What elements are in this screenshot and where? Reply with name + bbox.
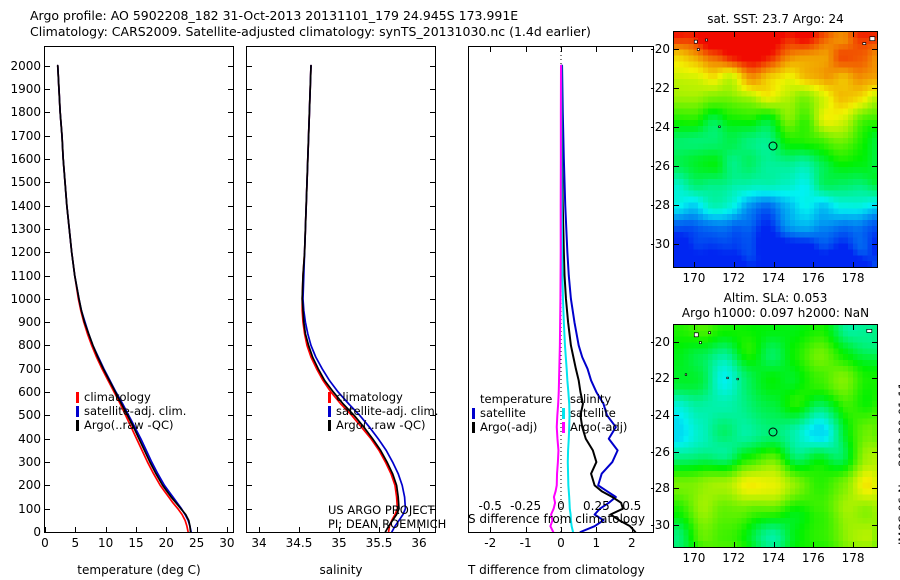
tick bbox=[247, 392, 252, 393]
tick bbox=[694, 262, 695, 267]
ytick-label: 2000 bbox=[1, 59, 41, 73]
tick bbox=[228, 136, 233, 137]
tick bbox=[228, 159, 233, 160]
tick bbox=[872, 205, 877, 206]
tick bbox=[45, 276, 50, 277]
tick bbox=[872, 342, 877, 343]
tick bbox=[136, 527, 137, 532]
legend-swatch bbox=[328, 420, 331, 431]
tick bbox=[247, 182, 252, 183]
ytick-label: 1000 bbox=[1, 292, 41, 306]
tick bbox=[75, 527, 76, 532]
tick bbox=[247, 369, 252, 370]
tick bbox=[872, 88, 877, 89]
legend-label: climatology bbox=[84, 390, 151, 404]
profile-location-marker bbox=[769, 428, 778, 437]
map-xtick-label: 174 bbox=[762, 271, 785, 285]
tick bbox=[227, 527, 228, 532]
salinity-profile-panel bbox=[246, 46, 436, 533]
tick bbox=[674, 378, 679, 379]
map-ytick-label: -20 bbox=[640, 335, 670, 349]
legend-swatch bbox=[472, 408, 475, 419]
tick bbox=[430, 206, 435, 207]
temperature-xaxis-label: temperature (deg C) bbox=[77, 563, 200, 577]
map-ytick-label: -24 bbox=[640, 120, 670, 134]
sla-map[interactable] bbox=[673, 324, 878, 548]
tick bbox=[228, 345, 233, 346]
legend-swatch bbox=[562, 422, 565, 433]
tick bbox=[247, 439, 252, 440]
sst-map-title: sat. SST: 23.7 Argo: 24 bbox=[673, 12, 878, 26]
map-xtick-label: 176 bbox=[802, 551, 825, 565]
tick bbox=[430, 89, 435, 90]
tick bbox=[526, 47, 527, 52]
tick bbox=[45, 89, 50, 90]
difference-bottom-xaxis-label: T difference from climatology bbox=[468, 563, 645, 577]
tick bbox=[247, 112, 252, 113]
temperature-legend: climatologysatellite-adj. clim.Argo(..ra… bbox=[76, 390, 186, 432]
tick bbox=[872, 488, 877, 489]
difference-top-xaxis-label: S difference from climatology bbox=[468, 512, 645, 526]
tick bbox=[45, 532, 50, 533]
ytick-label: 400 bbox=[1, 432, 41, 446]
sst-map[interactable] bbox=[673, 31, 878, 268]
xtick-label: 34.5 bbox=[286, 536, 313, 550]
legend-title: salinity bbox=[562, 392, 627, 406]
tick bbox=[166, 527, 167, 532]
tick bbox=[45, 415, 50, 416]
tick bbox=[45, 345, 50, 346]
tick bbox=[247, 345, 252, 346]
xtick-label: 35.5 bbox=[366, 536, 393, 550]
salinity-xaxis-label: salinity bbox=[319, 563, 362, 577]
tick bbox=[228, 276, 233, 277]
tick bbox=[813, 262, 814, 267]
tick bbox=[228, 509, 233, 510]
sst-map-raster bbox=[674, 32, 877, 267]
tick bbox=[430, 182, 435, 183]
tick bbox=[674, 415, 679, 416]
tick bbox=[299, 527, 300, 532]
legend-item: Argo(-adj) bbox=[472, 420, 552, 434]
legend-item: Argo(..raw -QC) bbox=[76, 418, 186, 432]
tick bbox=[45, 527, 46, 532]
tick bbox=[45, 509, 50, 510]
tick bbox=[674, 342, 679, 343]
xtick-label: 10 bbox=[98, 536, 113, 550]
xtick-label: 36 bbox=[411, 536, 426, 550]
ytick-label: 1800 bbox=[1, 105, 41, 119]
tick bbox=[774, 262, 775, 267]
tick bbox=[259, 527, 260, 532]
ytick-label: 800 bbox=[1, 338, 41, 352]
tick bbox=[430, 462, 435, 463]
sla-map-title-line2: Argo h1000: 0.097 h2000: NaN bbox=[663, 306, 888, 320]
tick bbox=[674, 166, 679, 167]
tick bbox=[45, 462, 50, 463]
tick bbox=[430, 229, 435, 230]
map-ytick-label: -24 bbox=[640, 408, 670, 422]
tick bbox=[694, 325, 695, 330]
tick bbox=[674, 49, 679, 50]
ytick-label: 1300 bbox=[1, 222, 41, 236]
tick bbox=[872, 378, 877, 379]
tick bbox=[734, 325, 735, 330]
page-title: Argo profile: AO 5902208_182 31-Oct-2013… bbox=[30, 8, 670, 40]
map-ytick-label: -26 bbox=[640, 159, 670, 173]
tick bbox=[247, 66, 252, 67]
tick bbox=[872, 166, 877, 167]
legend-item: Argo(..raw -QC) bbox=[328, 418, 438, 432]
imos-timestamp: IMOS 06-Nov-2013 20:01:11 bbox=[896, 382, 900, 545]
legend-item: satellite bbox=[472, 406, 552, 420]
tick bbox=[694, 542, 695, 547]
tick bbox=[228, 299, 233, 300]
ytick-label: 1100 bbox=[1, 269, 41, 283]
temperature-profile-plot bbox=[45, 47, 233, 532]
ytick-label: 1900 bbox=[1, 82, 41, 96]
xtick-label: 1 bbox=[593, 536, 601, 550]
ytick-label: 700 bbox=[1, 362, 41, 376]
tick bbox=[774, 325, 775, 330]
tick bbox=[774, 542, 775, 547]
tick bbox=[430, 112, 435, 113]
tick bbox=[228, 485, 233, 486]
tick bbox=[853, 542, 854, 547]
tick bbox=[872, 244, 877, 245]
difference-profile-plot bbox=[469, 47, 653, 532]
xtick-label: -1 bbox=[520, 536, 532, 550]
tick bbox=[45, 439, 50, 440]
tick bbox=[430, 439, 435, 440]
tick bbox=[45, 299, 50, 300]
legend-item: satellite-adj. clim. bbox=[328, 404, 438, 418]
tick bbox=[632, 47, 633, 52]
profile-location-marker bbox=[769, 141, 778, 150]
sla-map-title-line1: Altim. SLA: 0.053 bbox=[673, 291, 878, 305]
tick bbox=[430, 276, 435, 277]
tick bbox=[596, 527, 597, 532]
tick bbox=[430, 299, 435, 300]
map-ytick-label: -28 bbox=[640, 198, 670, 212]
legend-swatch bbox=[328, 392, 331, 403]
tick bbox=[45, 136, 50, 137]
tick bbox=[526, 527, 527, 532]
tick bbox=[45, 159, 50, 160]
map-ytick-label: -22 bbox=[640, 371, 670, 385]
tick bbox=[247, 415, 252, 416]
tick bbox=[247, 206, 252, 207]
xtick-label: 25 bbox=[189, 536, 204, 550]
legend-label: satellite-adj. clim. bbox=[336, 404, 438, 418]
tick bbox=[247, 485, 252, 486]
map-ytick-label: -26 bbox=[640, 445, 670, 459]
ytick-label: 200 bbox=[1, 478, 41, 492]
legend-item: climatology bbox=[76, 390, 186, 404]
legend-label: satellite-adj. clim. bbox=[84, 404, 186, 418]
tick bbox=[734, 32, 735, 37]
map-xtick-label: 172 bbox=[722, 271, 745, 285]
tick bbox=[430, 369, 435, 370]
tick bbox=[774, 32, 775, 37]
tick bbox=[674, 244, 679, 245]
tick bbox=[872, 415, 877, 416]
difference-legend-temperature: temperaturesatelliteArgo(-adj) bbox=[472, 392, 552, 434]
legend-item: climatology bbox=[328, 390, 438, 404]
tick bbox=[247, 462, 252, 463]
tick bbox=[45, 369, 50, 370]
temperature-profile-panel bbox=[44, 46, 234, 533]
tick bbox=[228, 415, 233, 416]
xtick-label-top: -0.5 bbox=[479, 499, 502, 513]
tick bbox=[813, 542, 814, 547]
ytick-label: 100 bbox=[1, 502, 41, 516]
tick bbox=[596, 47, 597, 52]
ytick-label: 500 bbox=[1, 408, 41, 422]
tick bbox=[247, 299, 252, 300]
tick bbox=[247, 159, 252, 160]
tick bbox=[228, 392, 233, 393]
tick bbox=[813, 32, 814, 37]
salinity-legend: climatologysatellite-adj. clim.Argo(..ra… bbox=[328, 390, 438, 432]
tick bbox=[106, 527, 107, 532]
xtick-label-top: 0.25 bbox=[583, 499, 610, 513]
tick bbox=[872, 127, 877, 128]
xtick-label-top: 0.5 bbox=[622, 499, 641, 513]
tick bbox=[247, 322, 252, 323]
tick bbox=[45, 182, 50, 183]
legend-swatch bbox=[328, 406, 331, 417]
tick bbox=[632, 527, 633, 532]
ytick-label: 1600 bbox=[1, 152, 41, 166]
project-footer: US ARGO PROJECT PI: DEAN ROEMMICH bbox=[328, 503, 446, 531]
tick bbox=[674, 452, 679, 453]
xtick-label: 30 bbox=[219, 536, 234, 550]
xtick-label: 2 bbox=[628, 536, 636, 550]
xtick-label: 0 bbox=[41, 536, 49, 550]
tick bbox=[430, 66, 435, 67]
ytick-label: 1700 bbox=[1, 129, 41, 143]
tick bbox=[674, 127, 679, 128]
tick bbox=[247, 229, 252, 230]
tick bbox=[430, 322, 435, 323]
tick bbox=[228, 322, 233, 323]
xtick-label: 15 bbox=[128, 536, 143, 550]
legend-title: temperature bbox=[472, 392, 552, 406]
tick bbox=[45, 252, 50, 253]
project-name: US ARGO PROJECT bbox=[328, 503, 446, 517]
xtick-label-top: -0.25 bbox=[510, 499, 541, 513]
salinity-profile-plot bbox=[247, 47, 435, 532]
tick bbox=[561, 47, 562, 52]
map-ytick-label: -30 bbox=[640, 237, 670, 251]
tick bbox=[247, 532, 252, 533]
tick bbox=[228, 369, 233, 370]
difference-legend-salinity: salinitysatelliteArgo(-adj) bbox=[562, 392, 627, 434]
tick bbox=[228, 462, 233, 463]
xtick-label: 0 bbox=[557, 536, 565, 550]
legend-swatch bbox=[562, 408, 565, 419]
tick bbox=[674, 488, 679, 489]
tick bbox=[430, 485, 435, 486]
tick bbox=[734, 542, 735, 547]
tick bbox=[197, 527, 198, 532]
tick bbox=[430, 136, 435, 137]
xtick-label: 5 bbox=[71, 536, 79, 550]
ytick-label: 1500 bbox=[1, 175, 41, 189]
legend-item: satellite bbox=[562, 406, 627, 420]
ytick-label: 600 bbox=[1, 385, 41, 399]
tick bbox=[674, 525, 679, 526]
xtick-label: 34 bbox=[251, 536, 266, 550]
title-line-2: Climatology: CARS2009. Satellite-adjuste… bbox=[30, 24, 670, 40]
tick bbox=[247, 136, 252, 137]
legend-label: Argo(..raw -QC) bbox=[336, 418, 426, 432]
project-pi: PI: DEAN ROEMMICH bbox=[328, 517, 446, 531]
tick bbox=[430, 159, 435, 160]
ytick-label: 0 bbox=[1, 525, 41, 539]
tick bbox=[45, 485, 50, 486]
map-xtick-label: 178 bbox=[842, 551, 865, 565]
xtick-label: -2 bbox=[484, 536, 496, 550]
legend-item: Argo(-adj) bbox=[562, 420, 627, 434]
map-xtick-label: 178 bbox=[842, 271, 865, 285]
legend-label: Argo(-adj) bbox=[480, 420, 537, 434]
xtick-label: 20 bbox=[159, 536, 174, 550]
tick bbox=[45, 229, 50, 230]
tick bbox=[734, 262, 735, 267]
tick bbox=[694, 32, 695, 37]
ytick-label: 300 bbox=[1, 455, 41, 469]
ytick-label: 1400 bbox=[1, 199, 41, 213]
tick bbox=[247, 509, 252, 510]
tick bbox=[247, 89, 252, 90]
map-xtick-label: 174 bbox=[762, 551, 785, 565]
tick bbox=[430, 532, 435, 533]
tick bbox=[430, 345, 435, 346]
legend-item: satellite-adj. clim. bbox=[76, 404, 186, 418]
tick bbox=[674, 88, 679, 89]
tick bbox=[872, 49, 877, 50]
difference-profile-panel bbox=[468, 46, 654, 533]
legend-swatch bbox=[76, 406, 79, 417]
tick bbox=[674, 205, 679, 206]
tick bbox=[228, 206, 233, 207]
tick bbox=[45, 66, 50, 67]
map-xtick-label: 170 bbox=[682, 551, 705, 565]
tick bbox=[247, 252, 252, 253]
tick bbox=[853, 262, 854, 267]
map-xtick-label: 176 bbox=[802, 271, 825, 285]
tick bbox=[45, 112, 50, 113]
tick bbox=[490, 527, 491, 532]
ytick-label: 900 bbox=[1, 315, 41, 329]
xtick-label-top: 0 bbox=[557, 499, 565, 513]
tick bbox=[853, 325, 854, 330]
legend-swatch bbox=[472, 422, 475, 433]
map-ytick-label: -28 bbox=[640, 481, 670, 495]
tick bbox=[872, 452, 877, 453]
tick bbox=[247, 276, 252, 277]
map-ytick-label: -20 bbox=[640, 42, 670, 56]
tick bbox=[45, 206, 50, 207]
tick bbox=[430, 252, 435, 253]
legend-swatch bbox=[76, 392, 79, 403]
tick bbox=[228, 182, 233, 183]
tick bbox=[813, 325, 814, 330]
legend-label: Argo(..raw -QC) bbox=[84, 418, 174, 432]
tick bbox=[853, 32, 854, 37]
map-ytick-label: -22 bbox=[640, 81, 670, 95]
tick bbox=[490, 47, 491, 52]
legend-label: satellite bbox=[480, 406, 526, 420]
tick bbox=[872, 525, 877, 526]
title-line-1: Argo profile: AO 5902208_182 31-Oct-2013… bbox=[30, 8, 670, 24]
tick bbox=[45, 322, 50, 323]
tick bbox=[45, 392, 50, 393]
tick bbox=[561, 527, 562, 532]
tick bbox=[228, 229, 233, 230]
tick bbox=[228, 66, 233, 67]
tick bbox=[228, 89, 233, 90]
map-ytick-label: -30 bbox=[640, 518, 670, 532]
legend-swatch bbox=[76, 420, 79, 431]
xtick-label: 35 bbox=[331, 536, 346, 550]
tick bbox=[228, 252, 233, 253]
legend-label: Argo(-adj) bbox=[570, 420, 627, 434]
legend-label: satellite bbox=[570, 406, 616, 420]
tick bbox=[228, 532, 233, 533]
ytick-label: 1200 bbox=[1, 245, 41, 259]
legend-label: climatology bbox=[336, 390, 403, 404]
map-xtick-label: 172 bbox=[722, 551, 745, 565]
tick bbox=[228, 439, 233, 440]
map-xtick-label: 170 bbox=[682, 271, 705, 285]
tick bbox=[228, 112, 233, 113]
